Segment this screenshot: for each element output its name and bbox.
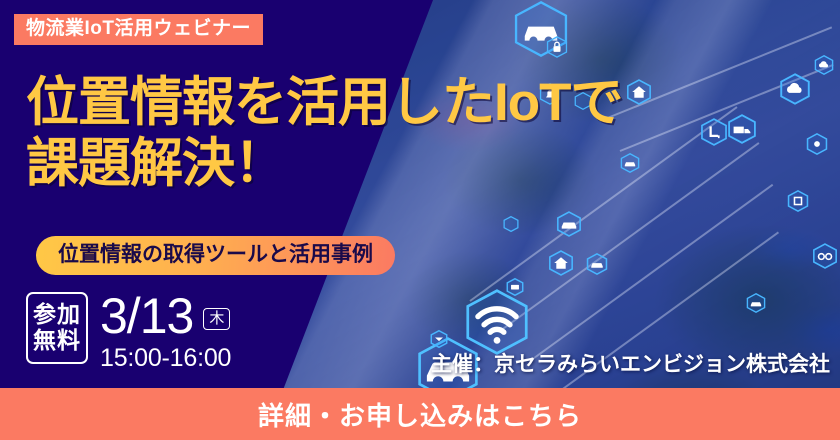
lock-icon	[546, 36, 568, 58]
truck-icon	[727, 114, 757, 144]
car-icon	[556, 211, 582, 237]
subtitle-pill: 位置情報の取得ツールと活用事例	[36, 236, 395, 275]
free-admission-line-2: 無料	[33, 328, 81, 354]
event-date-row: 3/13 木	[100, 292, 231, 340]
free-admission-badge: 参加 無料	[26, 292, 88, 364]
glasses-icon	[812, 243, 838, 269]
event-date-block: 3/13 木 15:00-16:00	[100, 292, 231, 371]
banner-content: 物流業IoT活用ウェビナー 位置情報を活用したIoTで 課題解決！ 位置情報の取…	[0, 0, 520, 390]
home-icon	[548, 250, 574, 276]
cloud-icon	[814, 55, 834, 75]
cta-bar[interactable]: 詳細・お申し込みはこちら	[0, 388, 840, 440]
category-badge: 物流業IoT活用ウェビナー	[14, 14, 263, 45]
free-admission-line-1: 参加	[33, 302, 81, 328]
event-date: 3/13	[100, 292, 193, 340]
chair-icon	[700, 118, 728, 146]
page-title: 位置情報を活用したIoTで 課題解決！	[26, 74, 626, 192]
chip-icon	[787, 190, 809, 212]
event-details: 参加 無料 3/13 木 15:00-16:00	[26, 292, 231, 371]
cloud-icon	[779, 73, 811, 105]
event-day-of-week: 木	[203, 308, 230, 330]
car-icon	[746, 293, 766, 313]
headline-line-2: 課題解決！	[26, 135, 626, 192]
car-icon	[586, 253, 608, 275]
headline-line-1: 位置情報を活用したIoTで	[26, 74, 626, 131]
camera-icon	[806, 133, 828, 155]
cta-label: 詳細・お申し込みはこちら	[258, 396, 582, 433]
event-time: 15:00-16:00	[100, 346, 231, 371]
organizer-label: 主催：京セラみらいエンビジョン株式会社	[431, 348, 830, 378]
home-icon	[626, 79, 652, 105]
webinar-banner: 物流業IoT活用ウェビナー 位置情報を活用したIoTで 課題解決！ 位置情報の取…	[0, 0, 840, 440]
